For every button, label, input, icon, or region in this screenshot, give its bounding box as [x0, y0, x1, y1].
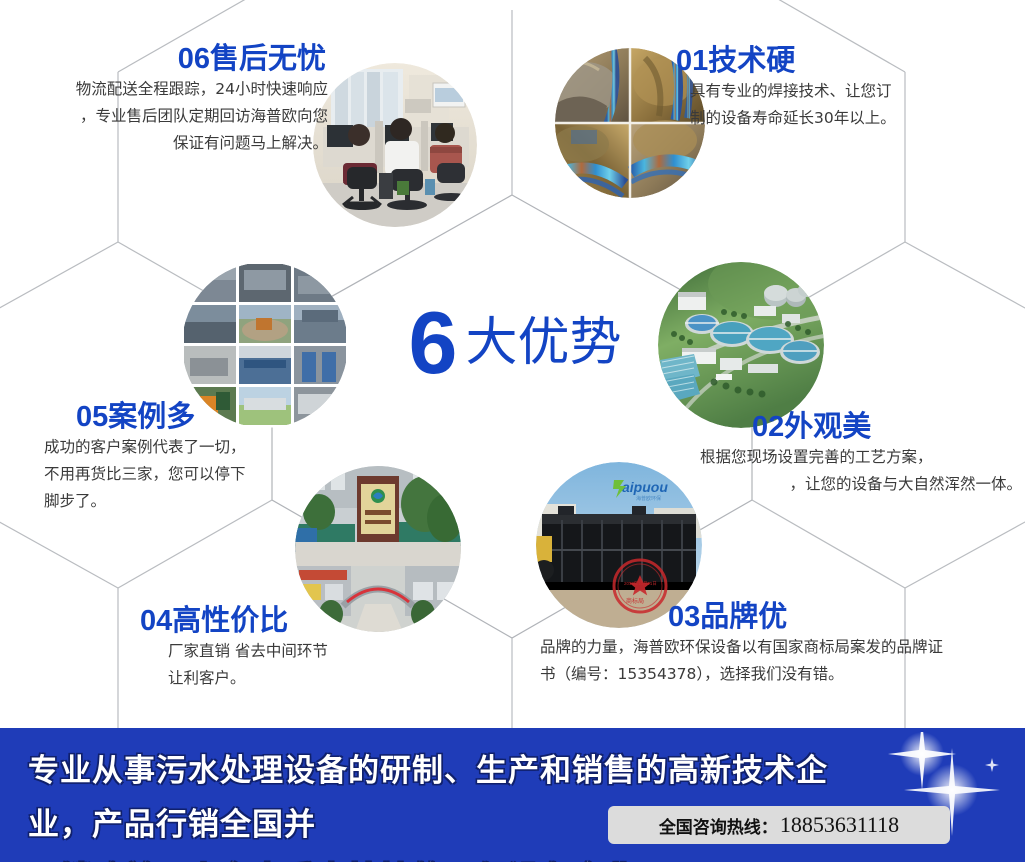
feature-02-heading: 02外观美: [700, 412, 1022, 444]
wastewater-plant-aerial-photo: [658, 262, 824, 428]
feature-05-desc-line-3: 脚步了。: [44, 488, 312, 515]
feature-02-description: 根据您现场设置完善的工艺方案， ，让您的设备与大自然浑然一体。: [700, 444, 1022, 498]
feature-05-desc-line-1: 成功的客户案例代表了一切，: [44, 434, 312, 461]
svg-text:2014年10月21日: 2014年10月21日: [624, 580, 657, 587]
feature-02-desc-line-2: ，让您的设备与大自然浑然一体。: [700, 471, 1022, 498]
feature-03-desc-line-2: 书（编号：15354378），选择我们没有错。: [540, 661, 1010, 688]
feature-06-desc-line-1: 物流配送全程跟踪，24小时快速响应: [16, 76, 328, 103]
feature-02-desc-line-1: 根据您现场设置完善的工艺方案，: [700, 444, 1022, 471]
feature-04-desc-line-1: 厂家直销 省去中间环节: [168, 638, 440, 665]
banner-slogan: 专业从事污水处理设备的研制、生产和销售的高新技术企业，产品行销全国并 远销欧美，…: [28, 744, 888, 862]
svg-text:aipuou: aipuou: [622, 479, 668, 495]
feature-04: 04高性价比 厂家直销 省去中间环节 让利客户。: [140, 606, 440, 692]
feature-06-heading: 06售后无忧: [16, 44, 328, 76]
feature-06-description: 物流配送全程跟踪，24小时快速响应 ，专业售后团队定期回访海普欧向您 保证有问题…: [16, 76, 328, 157]
banner-slogan-line-2: 远销欧美，山东省重点扶持的环保设备企业。: [28, 852, 888, 862]
feature-02: 02外观美 根据您现场设置完善的工艺方案， ，让您的设备与大自然浑然一体。: [700, 412, 1022, 498]
feature-04-description: 厂家直销 省去中间环节 让利客户。: [140, 638, 440, 692]
feature-01: 01技术硬 具有专业的焊接技术、让您订 制的设备寿命延长30年以上。: [676, 46, 1006, 132]
feature-01-heading: 01技术硬: [676, 46, 1006, 78]
feature-04-heading: 04高性价比: [140, 606, 440, 638]
feature-03-description: 品牌的力量，海普欧环保设备以有国家商标局案发的品牌证 书（编号：15354378…: [540, 634, 1010, 688]
feature-01-description: 具有专业的焊接技术、让您订 制的设备寿命延长30年以上。: [676, 78, 1006, 132]
center-suffix: 大优势: [465, 317, 621, 369]
feature-05-heading: 05案例多: [22, 402, 312, 434]
feature-01-desc-line-1: 具有专业的焊接技术、让您订: [690, 78, 1006, 105]
feature-05-desc-line-2: 不用再货比三家，您可以停下: [44, 461, 312, 488]
feature-01-desc-line-2: 制的设备寿命延长30年以上。: [690, 105, 1006, 132]
feature-04-desc-line-2: 让利客户。: [168, 665, 440, 692]
hotline-badge[interactable]: 全国咨询热线： 18853631118: [608, 806, 950, 844]
feature-03-heading: 03品牌优: [540, 602, 1010, 634]
center-number: 6: [409, 299, 456, 387]
feature-06-desc-line-3: 保证有问题马上解决。: [16, 130, 328, 157]
feature-06: 06售后无忧 物流配送全程跟踪，24小时快速响应 ，专业售后团队定期回访海普欧向…: [16, 44, 328, 157]
office-staff-photo: [313, 63, 477, 227]
hotline-number: 18853631118: [780, 812, 899, 838]
feature-05: 05案例多 成功的客户案例代表了一切， 不用再货比三家，您可以停下 脚步了。: [22, 402, 312, 515]
center-headline: 6 大优势: [370, 288, 660, 398]
feature-05-description: 成功的客户案例代表了一切， 不用再货比三家，您可以停下 脚步了。: [22, 434, 312, 515]
svg-text:海普欧环保: 海普欧环保: [636, 495, 661, 502]
hotline-label: 全国咨询热线：: [659, 813, 778, 838]
feature-06-desc-line-2: ，专业售后团队定期回访海普欧向您: [16, 103, 328, 130]
infographic-root: 6 大优势: [0, 0, 1025, 862]
feature-03: 03品牌优 品牌的力量，海普欧环保设备以有国家商标局案发的品牌证 书（编号：15…: [540, 602, 1010, 688]
feature-03-desc-line-1: 品牌的力量，海普欧环保设备以有国家商标局案发的品牌证: [540, 634, 1010, 661]
